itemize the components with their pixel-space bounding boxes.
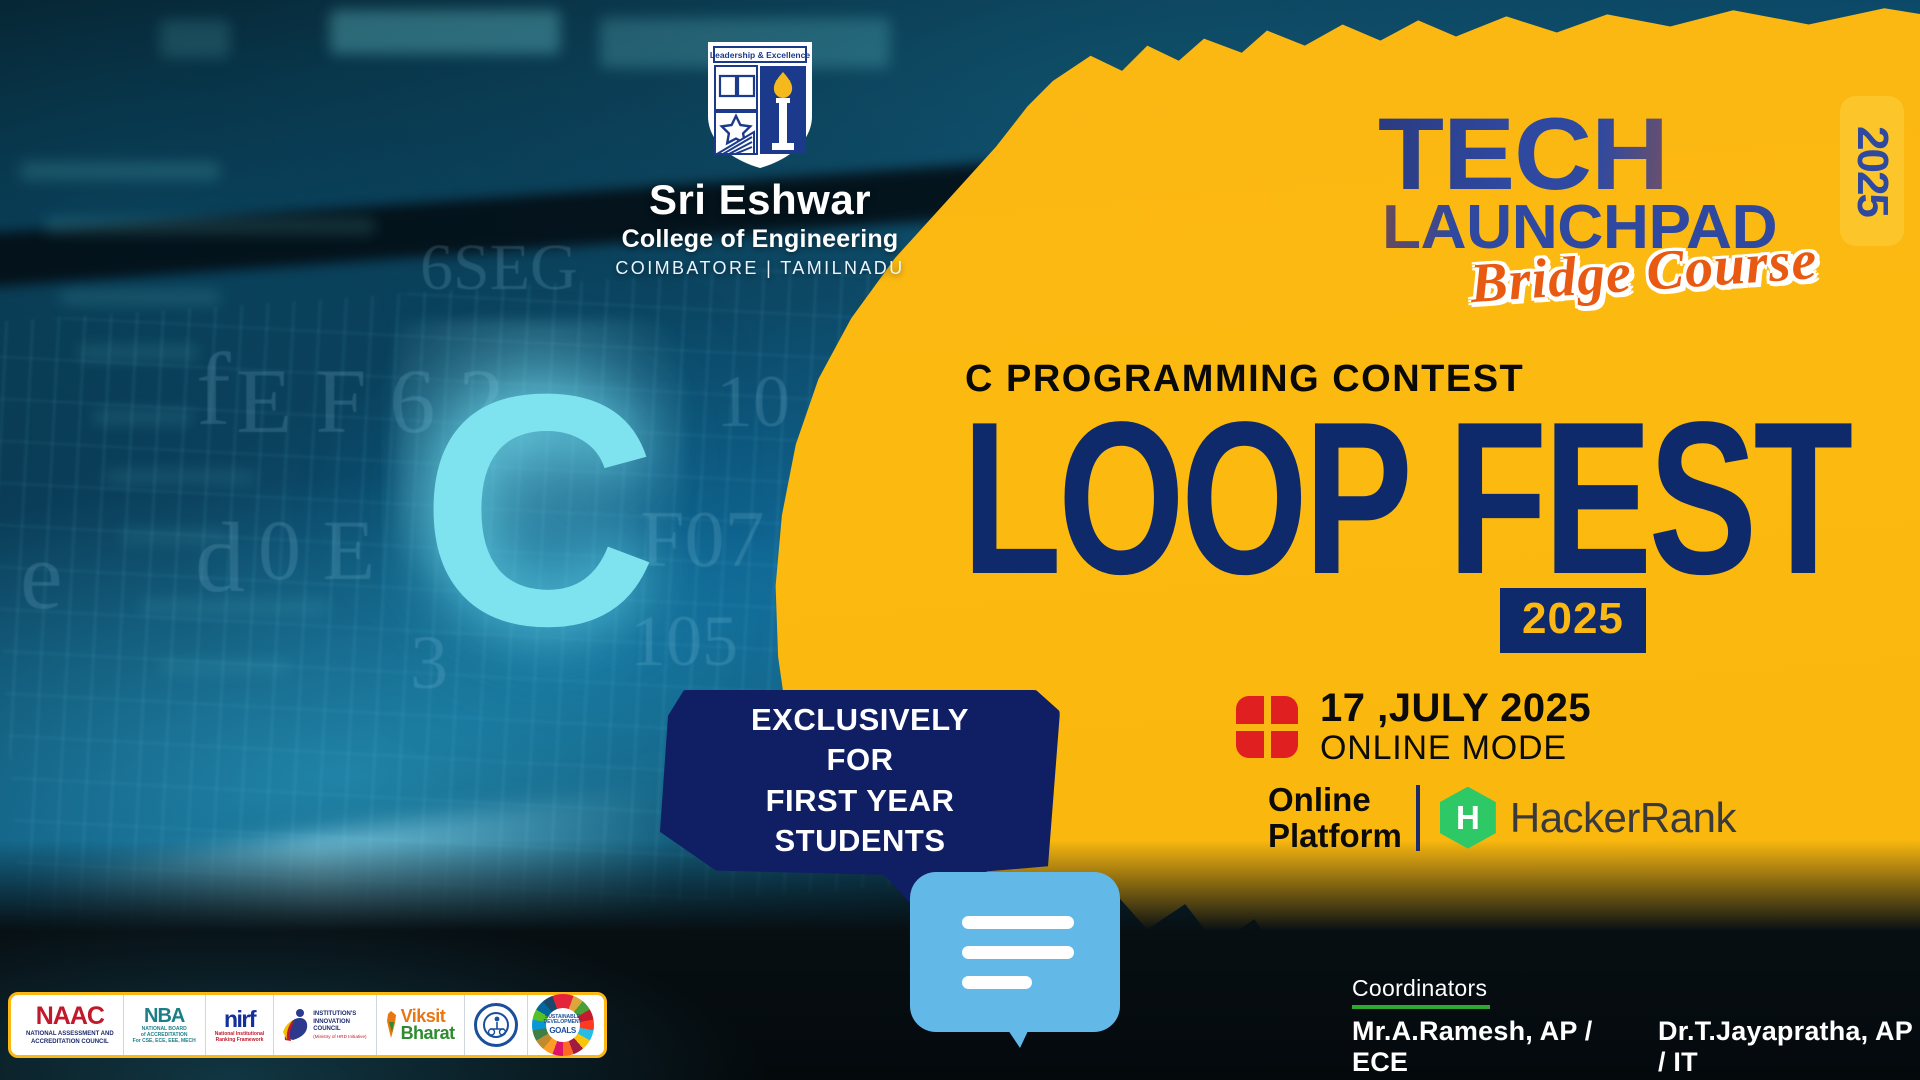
bharat-word: Bharat [401,1025,455,1042]
institution-seal-logo [465,995,528,1055]
background-ghost-letter: d [195,500,245,615]
coordinators-rule [1352,1005,1490,1009]
event-title: LOOP FEST [962,390,1849,608]
nirf-caption: National InstitutionalRanking Framework [215,1031,264,1043]
yellow-splatter [1192,120,1206,131]
yellow-splatter [1238,98,1255,111]
viksit-bharat-logo: Viksit Bharat [377,995,465,1055]
svg-text:Leadership & Excellence: Leadership & Excellence [710,50,810,60]
nba-caption: NATIONAL BOARDof ACCREDITATIONFor CSE, E… [133,1026,196,1044]
college-identity-block: Leadership & Excellence Sri Eshwar Colle… [615,38,905,279]
schedule-text: 17 ,JULY 2025 ONLINE MODE [1320,688,1591,766]
hackerrank-hex-icon: H [1440,787,1496,849]
schedule-block: 17 ,JULY 2025 ONLINE MODE [1236,688,1591,766]
chat-line [962,946,1074,959]
nba-mark: NBA [133,1006,196,1026]
platform-label-line1: Online [1268,782,1402,818]
coordinators-block: Coordinators Mr.A.Ramesh, AP / ECE Dr.T.… [1352,975,1920,1078]
nba-logo: NBA NATIONAL BOARDof ACCREDITATIONFor CS… [124,995,206,1055]
background-ghost-letter: 10 [716,360,790,445]
background-code-block [20,162,220,180]
calendar-star-accent [1254,714,1280,740]
event-mode: ONLINE MODE [1320,730,1591,767]
sdg-logo: SUSTAINABLEDEVELOPMENT GOALS [528,995,598,1055]
naac-caption: NATIONAL ASSESSMENT ANDACCREDITATION COU… [26,1031,114,1046]
college-name: Sri Eshwar [615,176,905,224]
iic-subcaption: (Ministry of HRD Initiative) [313,1034,366,1039]
coordinators-names: Mr.A.Ramesh, AP / ECE Dr.T.Jayapratha, A… [1352,1016,1920,1078]
brand-year-label: 2025 [1852,126,1892,216]
seal-inner-ring [483,1012,509,1038]
background-ghost-letter: f [196,330,231,449]
sdg-caption: SUSTAINABLEDEVELOPMENT [544,1015,582,1027]
calendar-quad-icon [1236,696,1298,758]
hackerrank-wordmark: HackerRank [1510,794,1736,842]
tech-launchpad-logo: TECH LAUNCHPAD 2025 Bridge Course [1378,112,1898,255]
circular-seal-icon [474,1003,518,1047]
tech-wordmark: TECH [1378,112,1920,198]
iic-figure-icon [283,1008,309,1042]
audience-line-3: FIRST YEAR [660,781,1060,821]
iic-logo: INSTITUTION'SINNOVATIONCOUNCIL (Ministry… [274,995,376,1055]
platform-block: Online Platform H HackerRank [1268,782,1736,853]
sdg-color-wheel-icon: SUSTAINABLEDEVELOPMENT GOALS [532,994,594,1056]
poster-canvas: f d e E F 6 2 0 E F07 10 3 105 6SEG C Le… [0,0,1920,1080]
sdg-goals-word: GOALS [544,1026,582,1035]
background-code-block [45,218,375,234]
nirf-mark: nirf [215,1008,264,1031]
chat-line [962,976,1032,989]
audience-line-2: FOR [660,740,1060,780]
chat-line [962,916,1074,929]
shield-crest-icon: Leadership & Excellence [704,38,816,170]
naac-logo: NAAC NATIONAL ASSESSMENT ANDACCREDITATIO… [17,995,124,1055]
hackerrank-mark: H [1456,801,1480,834]
background-code-block [330,10,560,54]
platform-label-line2: Platform [1268,818,1402,854]
background-ghost-letter: 6SEG [420,230,578,306]
background-code-block [60,290,220,305]
platform-divider [1416,785,1420,851]
accreditation-strip: NAAC NATIONAL ASSESSMENT ANDACCREDITATIO… [8,992,607,1058]
background-code-block [160,660,290,674]
college-crest: Leadership & Excellence [615,38,905,170]
brand-year-badge: 2025 [1840,96,1904,246]
audience-bubble-text: EXCLUSIVELY FOR FIRST YEAR STUDENTS [660,700,1060,861]
background-ghost-letter: e [20,520,63,631]
nirf-logo: nirf National InstitutionalRanking Frame… [206,995,274,1055]
audience-line-4: STUDENTS [660,821,1060,861]
naac-mark: NAAC [26,1004,114,1029]
college-sub-name: College of Engineering [615,225,905,254]
background-letter-c: C [420,345,658,675]
background-code-block [78,345,198,360]
background-code-block [92,410,192,424]
coordinator-1: Mr.A.Ramesh, AP / ECE [1352,1016,1616,1078]
yellow-splatter [1100,128,1112,138]
coordinators-title: Coordinators [1352,975,1920,1002]
background-ghost-letter: 0 E [258,500,375,600]
chat-bubble-tail [1000,1018,1034,1048]
iic-caption: INSTITUTION'SINNOVATIONCOUNCIL [313,1011,366,1034]
event-date: 17 ,JULY 2025 [1320,688,1591,730]
coordinator-2: Dr.T.Jayapratha, AP / IT [1658,1016,1920,1078]
india-map-icon [386,1010,399,1040]
platform-label: Online Platform [1268,782,1402,853]
background-code-block [160,20,230,58]
yellow-splatter [1146,104,1168,120]
college-location: COIMBATORE | TAMILNADU [615,258,905,279]
audience-line-1: EXCLUSIVELY [660,700,1060,740]
seal-emblem-icon [486,1015,508,1037]
yellow-splatter [1068,114,1086,128]
sdg-hub-label: SUSTAINABLEDEVELOPMENT GOALS [546,1008,580,1042]
event-year-badge: 2025 [1500,588,1646,653]
background-code-block [105,470,255,484]
